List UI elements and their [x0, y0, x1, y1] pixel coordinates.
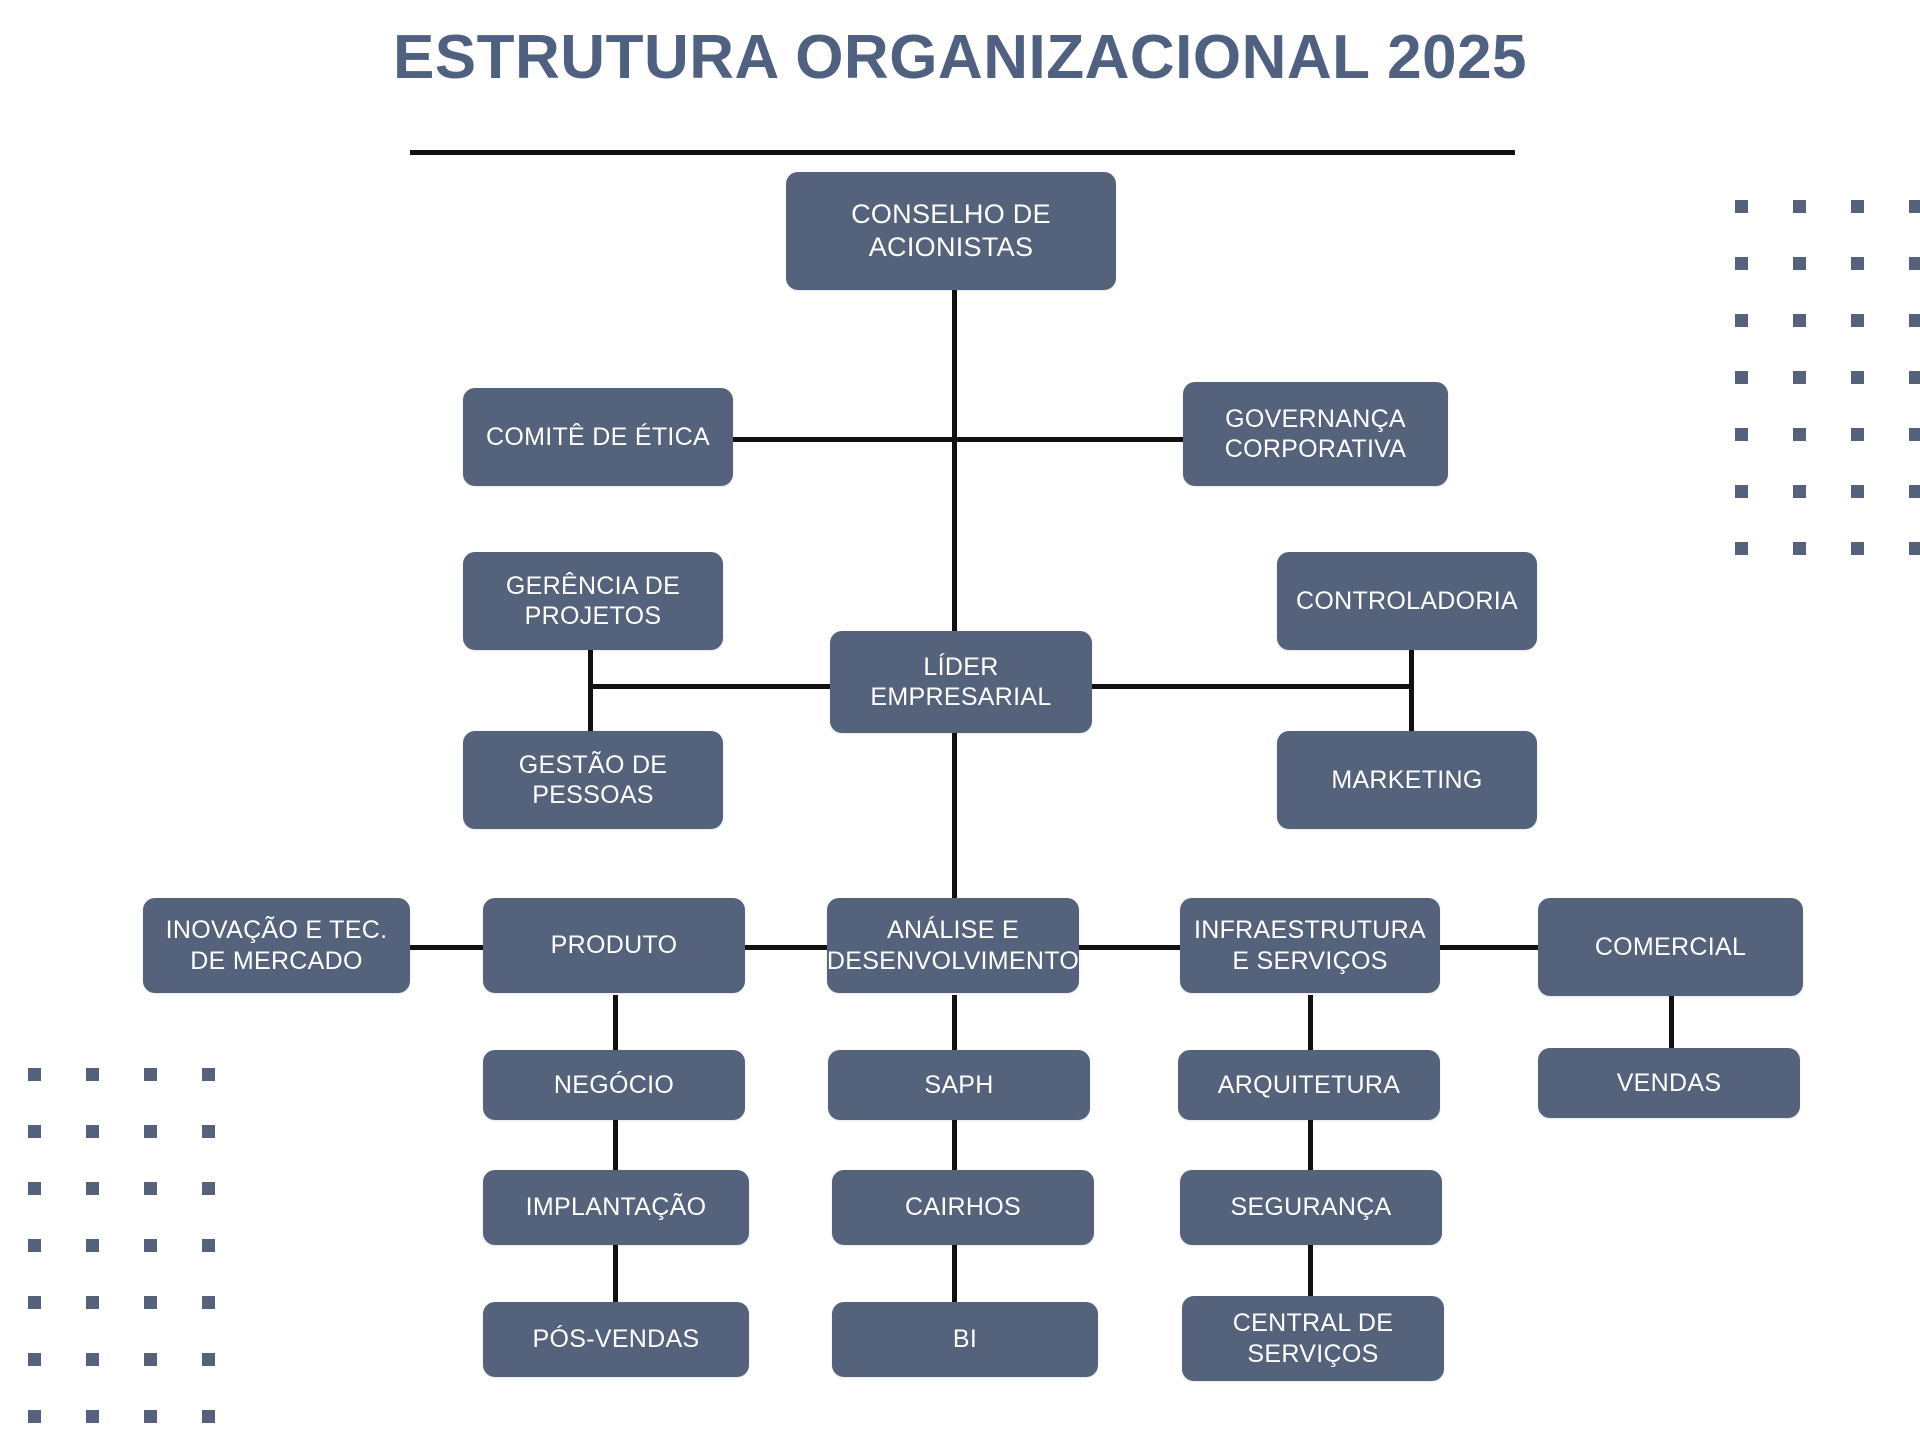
dot [1909, 542, 1920, 555]
node-label: SAPH [924, 1070, 993, 1101]
dot [1735, 371, 1748, 384]
node-central-de-servicos[interactable]: CENTRAL DE SERVIÇOS [1182, 1296, 1444, 1381]
connector-produto-negocio [613, 995, 618, 1050]
node-lider-empresarial[interactable]: LÍDER EMPRESARIAL [830, 631, 1092, 733]
dot [1851, 257, 1864, 270]
node-inovacao-e-tec-de-mercado[interactable]: INOVAÇÃO E TEC. DE MERCADO [143, 898, 410, 993]
dot [1735, 257, 1748, 270]
node-label: ARQUITETURA [1218, 1070, 1400, 1101]
dot [28, 1296, 41, 1309]
dot [86, 1125, 99, 1138]
decorative-dot-grid-bottom-left [28, 1068, 215, 1423]
connector-row2-horizontal [728, 437, 1188, 442]
dot [28, 1125, 41, 1138]
dot [202, 1182, 215, 1195]
dot [1793, 428, 1806, 441]
dot [1793, 200, 1806, 213]
node-label: PRODUTO [551, 930, 678, 961]
dot [28, 1410, 41, 1423]
node-gestao-de-pessoas[interactable]: GESTÃO DE PESSOAS [463, 731, 723, 829]
dot [1793, 314, 1806, 327]
dot [202, 1353, 215, 1366]
dot [202, 1239, 215, 1252]
connector-cairhos-bi [952, 1245, 957, 1310]
dot [1909, 428, 1920, 441]
dot [28, 1239, 41, 1252]
node-label: COMITÊ DE ÉTICA [486, 422, 710, 453]
dot [144, 1068, 157, 1081]
node-label: NEGÓCIO [554, 1070, 674, 1101]
decorative-dot-grid-top-right [1735, 200, 1920, 555]
dot [28, 1068, 41, 1081]
node-implantacao[interactable]: IMPLANTAÇÃO [483, 1170, 749, 1245]
dot [86, 1182, 99, 1195]
dot [1793, 371, 1806, 384]
dot [1851, 371, 1864, 384]
dot [28, 1353, 41, 1366]
node-label: PÓS-VENDAS [533, 1324, 700, 1355]
dot [86, 1068, 99, 1081]
connector-conselho-trunk [952, 290, 957, 640]
node-label: COMERCIAL [1595, 932, 1746, 963]
dot [1851, 314, 1864, 327]
node-infraestrutura-e-servicos[interactable]: INFRAESTRUTURA E SERVIÇOS [1180, 898, 1440, 993]
node-label: SEGURANÇA [1230, 1192, 1391, 1223]
dot [1909, 485, 1920, 498]
node-label: CENTRAL DE SERVIÇOS [1192, 1308, 1434, 1369]
node-label: GESTÃO DE PESSOAS [473, 750, 713, 811]
title-divider [410, 150, 1515, 155]
node-label: MARKETING [1331, 765, 1482, 796]
node-seguranca[interactable]: SEGURANÇA [1180, 1170, 1442, 1245]
org-chart-canvas: ESTRUTURA ORGANIZACIONAL 2025 CONSELHO D… [0, 0, 1920, 1440]
connector-implantacao-posvendas [613, 1245, 618, 1310]
dot [1909, 371, 1920, 384]
connector-analise-saph [952, 995, 957, 1050]
connector-lider-left-arm [588, 684, 833, 689]
dot [1793, 542, 1806, 555]
dot [86, 1296, 99, 1309]
dot [202, 1296, 215, 1309]
dot [1851, 428, 1864, 441]
node-conselho-de-acionistas[interactable]: CONSELHO DE ACIONISTAS [786, 172, 1116, 290]
node-comercial[interactable]: COMERCIAL [1538, 898, 1803, 996]
node-analise-e-desenvolvimento[interactable]: ANÁLISE E DESENVOLVIMENTO [827, 898, 1079, 993]
node-label: ANÁLISE E DESENVOLVIMENTO [827, 915, 1079, 976]
node-label: INFRAESTRUTURA E SERVIÇOS [1190, 915, 1430, 976]
node-arquitetura[interactable]: ARQUITETURA [1178, 1050, 1440, 1120]
connector-lider-to-analise [952, 730, 957, 905]
node-label: INOVAÇÃO E TEC. DE MERCADO [153, 915, 400, 976]
node-controladoria[interactable]: CONTROLADORIA [1277, 552, 1537, 650]
dot [144, 1239, 157, 1252]
node-label: GOVERNANÇA CORPORATIVA [1193, 404, 1438, 465]
dot [144, 1410, 157, 1423]
dot [1909, 200, 1920, 213]
dot [1909, 257, 1920, 270]
node-comite-de-etica[interactable]: COMITÊ DE ÉTICA [463, 388, 733, 486]
node-marketing[interactable]: MARKETING [1277, 731, 1537, 829]
node-negocio[interactable]: NEGÓCIO [483, 1050, 745, 1120]
dot [1735, 314, 1748, 327]
dot [28, 1182, 41, 1195]
dot [1793, 257, 1806, 270]
dot [202, 1410, 215, 1423]
node-saph[interactable]: SAPH [828, 1050, 1090, 1120]
node-label: GERÊNCIA DE PROJETOS [473, 571, 713, 632]
node-label: BI [953, 1324, 977, 1355]
dot [1851, 200, 1864, 213]
dot [86, 1410, 99, 1423]
dot [1735, 542, 1748, 555]
dot [144, 1182, 157, 1195]
dot [1735, 485, 1748, 498]
dot [202, 1125, 215, 1138]
page-title: ESTRUTURA ORGANIZACIONAL 2025 [0, 22, 1920, 93]
node-vendas[interactable]: VENDAS [1538, 1048, 1800, 1118]
dot [1851, 485, 1864, 498]
node-gerencia-de-projetos[interactable]: GERÊNCIA DE PROJETOS [463, 552, 723, 650]
dot [144, 1353, 157, 1366]
node-governanca-corporativa[interactable]: GOVERNANÇA CORPORATIVA [1183, 382, 1448, 486]
node-label: CONSELHO DE ACIONISTAS [796, 198, 1106, 264]
dot [86, 1239, 99, 1252]
dot [202, 1068, 215, 1081]
node-bi[interactable]: BI [832, 1302, 1098, 1377]
dot [1909, 314, 1920, 327]
connector-lider-right-arm [1092, 684, 1414, 689]
dot [1735, 428, 1748, 441]
node-label: LÍDER EMPRESARIAL [840, 652, 1082, 713]
node-produto[interactable]: PRODUTO [483, 898, 745, 993]
node-label: CONTROLADORIA [1296, 586, 1518, 617]
connector-comercial-vendas [1669, 988, 1674, 1048]
dot [144, 1296, 157, 1309]
connector-infra-arquitetura [1308, 995, 1313, 1050]
dot [144, 1125, 157, 1138]
node-pos-vendas[interactable]: PÓS-VENDAS [483, 1302, 749, 1377]
node-label: IMPLANTAÇÃO [526, 1192, 707, 1223]
dot [1851, 542, 1864, 555]
dot [1735, 200, 1748, 213]
dot [86, 1353, 99, 1366]
dot [1793, 485, 1806, 498]
node-cairhos[interactable]: CAIRHOS [832, 1170, 1094, 1245]
node-label: CAIRHOS [905, 1192, 1021, 1223]
node-label: VENDAS [1617, 1068, 1722, 1099]
